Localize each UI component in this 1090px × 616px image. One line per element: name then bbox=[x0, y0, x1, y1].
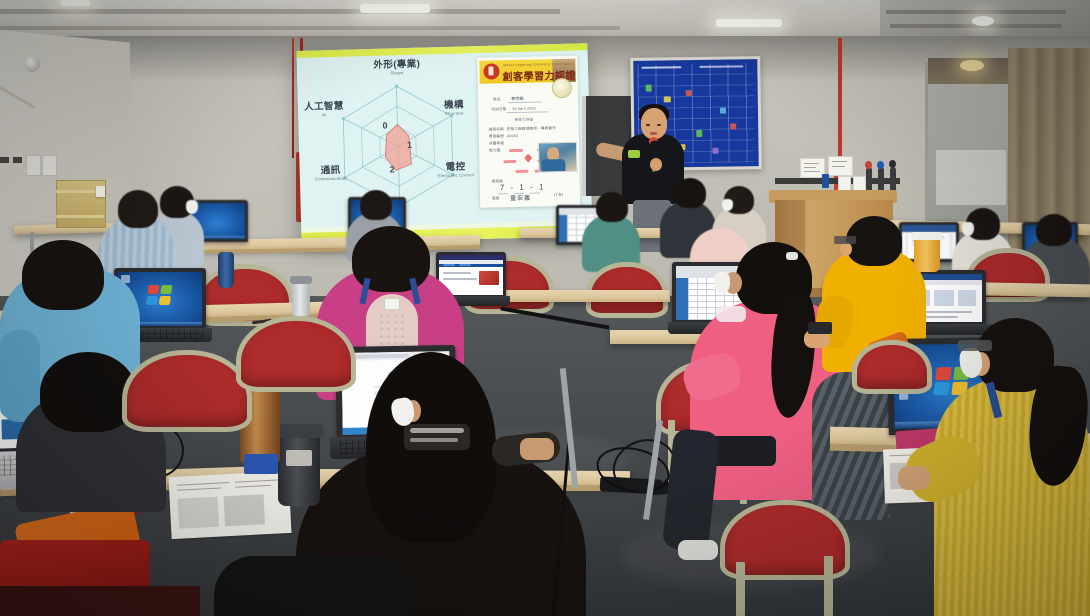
frosted-glass-panel bbox=[936, 150, 1006, 205]
box-label bbox=[96, 186, 105, 197]
face-mask bbox=[714, 272, 730, 294]
radar-tick-1: 1 bbox=[407, 140, 412, 150]
travel-mug-lid bbox=[274, 424, 324, 438]
cup-lid bbox=[911, 232, 943, 240]
water-bottle[interactable] bbox=[292, 282, 310, 316]
certificate-field-label: 能力圖 bbox=[489, 148, 500, 153]
ceiling-light bbox=[716, 19, 782, 27]
ceiling-light bbox=[60, 0, 90, 6]
certificate-field-label: 評量等級 bbox=[489, 141, 504, 146]
certificate-signature: 童宏義 bbox=[510, 193, 531, 202]
participant-blue-shirt-hair bbox=[22, 240, 104, 310]
slide-content: 外形(專業) Shape 機構 Structure 電控 Electronic … bbox=[296, 43, 592, 244]
presenter-hand bbox=[650, 158, 662, 171]
screen-cord-right bbox=[838, 38, 842, 173]
certificate-seal-icon bbox=[552, 78, 572, 98]
coffee-cup[interactable] bbox=[914, 236, 940, 272]
microphone-head-icon bbox=[877, 161, 884, 169]
ceiling-light bbox=[360, 4, 430, 13]
certificate-field-label: 姓名 bbox=[493, 97, 501, 102]
thermos-bottle[interactable] bbox=[218, 252, 234, 288]
presenter-eye bbox=[646, 124, 650, 126]
hair-tie bbox=[786, 252, 798, 260]
participant-ponytail-hand bbox=[520, 438, 554, 460]
presenter-eye bbox=[657, 124, 661, 126]
ceiling-beam bbox=[0, 26, 620, 30]
participant-mustard-hand bbox=[898, 466, 930, 490]
participant-far-right-hair bbox=[1036, 214, 1072, 246]
travel-mug[interactable] bbox=[278, 430, 320, 506]
certificate-signature-label: 簽章 bbox=[492, 196, 500, 201]
radar-tick-0: 0 bbox=[382, 121, 387, 131]
hair-clip-detail bbox=[410, 428, 464, 433]
participant-dark-back-hair bbox=[674, 178, 706, 208]
wall-outlet bbox=[13, 157, 22, 163]
printed-handout bbox=[168, 471, 291, 539]
bottle-label bbox=[244, 454, 278, 474]
certificate-radar-mini-icon bbox=[524, 154, 532, 163]
sprinkler-head-icon bbox=[24, 56, 40, 72]
classroom-photo-scene: 外形(專業) Shape 機構 Structure 電控 Electronic … bbox=[0, 0, 1090, 616]
ceiling-beam bbox=[0, 9, 560, 14]
certificate-field-label: 課程名稱 bbox=[489, 127, 504, 132]
chair[interactable] bbox=[852, 340, 932, 394]
radar-axis-structure: 機構 Structure bbox=[428, 100, 480, 116]
certificate-org-logo: ITRI bbox=[554, 192, 564, 197]
bottle-cap bbox=[290, 276, 312, 284]
light-switch-plate[interactable] bbox=[26, 155, 41, 176]
certificate-field-value: 李宗翰 bbox=[511, 96, 524, 102]
participant-grey-hair bbox=[360, 190, 392, 220]
podium-marker bbox=[822, 174, 829, 188]
face-mask bbox=[722, 199, 733, 211]
podium-document bbox=[828, 156, 853, 176]
certificate-score-value: 7 - 1 - 1 bbox=[500, 182, 546, 192]
presenter-shirt-logo bbox=[628, 150, 640, 158]
face-mask bbox=[186, 200, 198, 214]
participant-striped-hair bbox=[118, 190, 158, 228]
eyeglasses-icon bbox=[834, 236, 856, 244]
certificate-image: Maker Learning Credential Certification … bbox=[477, 56, 580, 208]
ceiling-downlight bbox=[972, 16, 994, 26]
polo-collar bbox=[716, 306, 746, 322]
face-mask bbox=[962, 222, 974, 236]
hair-clip-detail bbox=[410, 438, 458, 442]
radar-tick-2: 2 bbox=[390, 164, 395, 174]
smartphone[interactable] bbox=[808, 322, 832, 334]
radar-axis-communication: 通訊 Communication bbox=[302, 165, 360, 181]
certificate-photo bbox=[538, 142, 578, 173]
certificate-field-value: 30 April 2020 bbox=[512, 107, 536, 111]
wall-outlet bbox=[0, 157, 9, 163]
light-switch-plate[interactable] bbox=[42, 155, 57, 176]
participant-yellow-ear bbox=[840, 242, 852, 256]
shoe bbox=[678, 540, 718, 560]
presenter-mouth bbox=[650, 132, 657, 135]
radar-axis-electronic-control: 電控 Electronic Control bbox=[426, 162, 486, 178]
certificate-subheading: 學習力評語 bbox=[514, 118, 533, 123]
radar-axis-shape: 外形(專業) Shape bbox=[357, 59, 437, 76]
certificate-field-value: A0056 bbox=[507, 134, 518, 138]
box-tape bbox=[56, 215, 104, 218]
certificate-field-label: 完訓日期 bbox=[491, 107, 506, 112]
chair-leg bbox=[824, 556, 833, 616]
name-badge bbox=[384, 298, 400, 310]
door-downlight bbox=[960, 60, 984, 71]
microphone-head-icon bbox=[889, 160, 896, 168]
certificate-field-label: 實習編號 bbox=[489, 134, 504, 139]
foreground-bag bbox=[0, 586, 200, 616]
microphone-head-icon bbox=[865, 161, 872, 169]
projector-screen: 外形(專業) Shape 機構 Structure 電控 Electronic … bbox=[296, 43, 592, 244]
participant-teal-hair bbox=[596, 192, 628, 222]
foreground-chair-shadow bbox=[214, 556, 414, 616]
eyeglasses-icon bbox=[958, 340, 992, 351]
mug-label bbox=[286, 450, 312, 466]
screen-cord bbox=[292, 38, 294, 158]
radar-axis-ai: 人工智慧 AI bbox=[296, 101, 356, 117]
certificate-field-value: 智慧工廠跨域應用・專題實作 bbox=[507, 126, 556, 132]
chair-leg bbox=[736, 562, 745, 616]
